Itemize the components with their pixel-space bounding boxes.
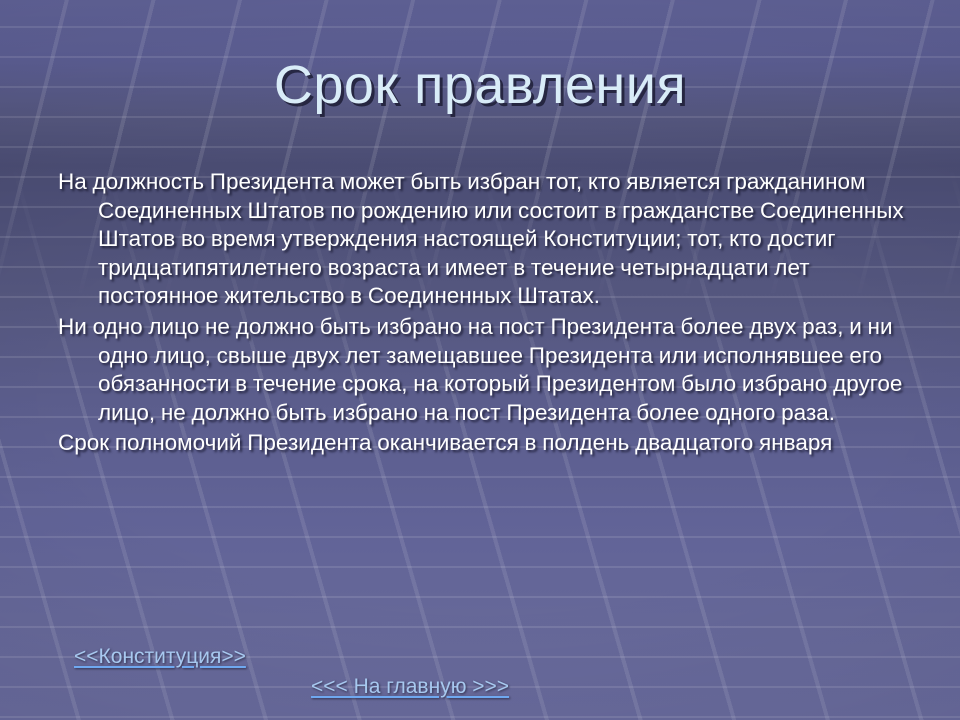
presentation-slide: Срок правления На должность Президента м… — [0, 0, 960, 720]
body-paragraph: Ни одно лицо не должно быть избрано на п… — [58, 313, 930, 427]
body-paragraph: Срок полномочий Президента оканчивается … — [58, 429, 930, 458]
slide-body: На должность Президента может быть избра… — [58, 168, 930, 458]
slide-title: Срок правления — [0, 57, 960, 114]
link-home[interactable]: <<< На главную >>> — [311, 675, 509, 699]
link-constitution[interactable]: <<Конституция>> — [74, 645, 246, 669]
body-paragraph: На должность Президента может быть избра… — [58, 168, 930, 311]
